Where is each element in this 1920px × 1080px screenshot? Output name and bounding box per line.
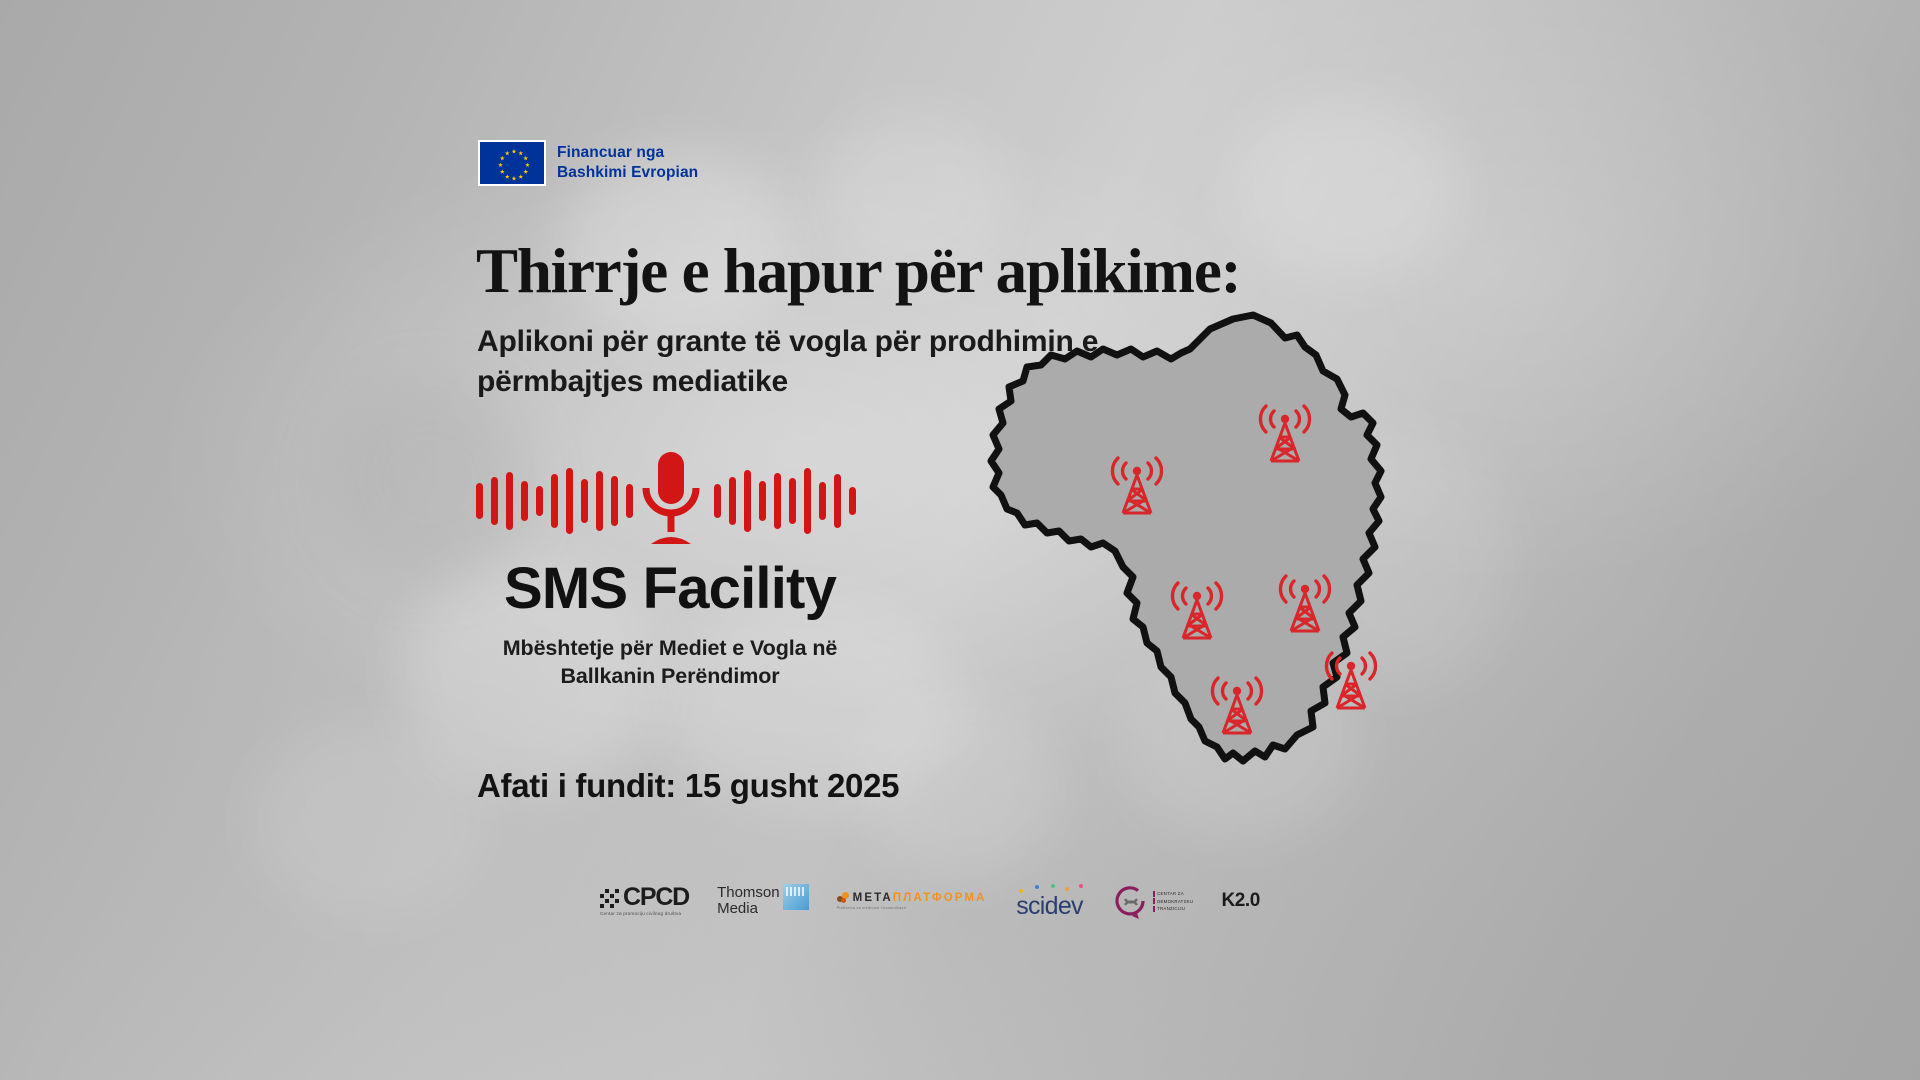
eu-star-icon xyxy=(525,163,530,168)
scidev-dots-icon xyxy=(1015,884,1085,894)
thomson-square-icon xyxy=(783,884,809,910)
thomson-media-logo: Thomson Media xyxy=(717,884,809,919)
eu-funding-badge: Financuar nga Bashkimi Evropian xyxy=(478,140,698,186)
tagline-line2: Ballkanin Perëndimor xyxy=(470,662,870,690)
k20-wordmark: K2.0 xyxy=(1221,890,1260,912)
thomson-line2: Media xyxy=(717,901,780,917)
scidev-wordmark: scidev xyxy=(1016,894,1083,919)
deadline-text: Afati i fundit: 15 gusht 2025 xyxy=(477,767,899,805)
meta-logo: METAПЛАТФОРМА Platforma za mediume i kom… xyxy=(837,892,987,910)
cpcd-checker-icon xyxy=(600,889,619,908)
sms-facility-logo: SMS Facility Mbështetje për Mediet e Vog… xyxy=(470,448,870,691)
eu-star-icon xyxy=(518,174,523,179)
meta-dots-icon xyxy=(837,892,850,904)
cpcd-logo: CPCD Centar za promociju civilnog društv… xyxy=(600,886,689,917)
partner-logos: CPCD Centar za promociju civilnog društv… xyxy=(600,865,1260,937)
eu-star-icon xyxy=(518,151,523,156)
meta-wordmark: METAПЛАТФОРМА xyxy=(853,892,987,904)
sms-facility-title: SMS Facility xyxy=(470,559,870,620)
cdt-logo: CENTAR ZA DEMOKRATSKU TRANZICIJU xyxy=(1113,883,1194,919)
scidev-logo: scidev xyxy=(1015,884,1085,919)
eu-star-icon xyxy=(500,156,505,161)
eu-star-icon xyxy=(500,169,505,174)
cdt-line3: TRANZICIJU xyxy=(1157,906,1185,911)
microphone-waveform-icon xyxy=(470,448,870,553)
eu-flag-icon xyxy=(478,140,546,186)
poster-canvas: Financuar nga Bashkimi Evropian Thirrje … xyxy=(0,0,1920,1080)
eu-star-icon xyxy=(523,169,528,174)
sms-facility-tagline: Mbështetje për Mediet e Vogla në Ballkan… xyxy=(470,634,870,691)
western-balkans-map xyxy=(985,305,1425,845)
eu-star-icon xyxy=(523,156,528,161)
eu-funding-text: Financuar nga Bashkimi Evropian xyxy=(557,143,698,183)
cpcd-tagline: Centar za promociju civilnog društva xyxy=(600,911,681,916)
k20-logo: K2.0 xyxy=(1221,890,1260,912)
eu-funding-line1: Financuar nga xyxy=(557,143,698,163)
tagline-line1: Mbështetje për Mediet e Vogla në xyxy=(470,634,870,662)
eu-star-icon xyxy=(498,163,503,168)
thomson-line1: Thomson xyxy=(717,885,780,901)
eu-funding-line2: Bashkimi Evropian xyxy=(557,163,698,183)
cdt-line2: DEMOKRATSKU xyxy=(1157,899,1193,904)
map-outline-path xyxy=(991,315,1381,761)
eu-star-icon xyxy=(512,149,517,154)
eu-star-icon xyxy=(505,174,510,179)
eu-star-icon xyxy=(512,176,517,181)
page-title: Thirrje e hapur për aplikime: xyxy=(476,235,1240,308)
cdt-mark-icon xyxy=(1113,883,1149,919)
cdt-line1: CENTAR ZA xyxy=(1157,891,1184,896)
eu-star-icon xyxy=(505,151,510,156)
cpcd-wordmark: CPCD xyxy=(623,886,689,909)
meta-tagline: Platforma za mediume i komunikacii xyxy=(837,906,906,910)
